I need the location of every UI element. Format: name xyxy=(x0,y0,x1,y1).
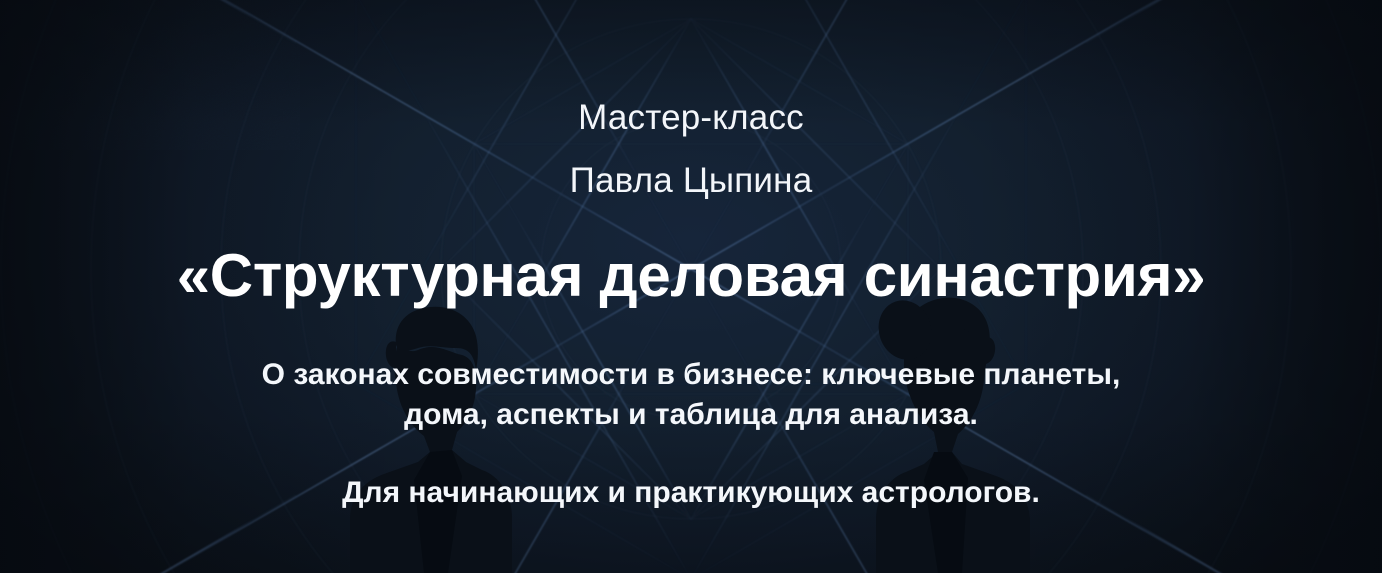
page-title: «Структурная деловая синастрия» xyxy=(177,244,1206,307)
audience-line: Для начинающих и практикующих астрологов… xyxy=(342,473,1040,512)
subtitle-line-2: дома, аспекты и таблица для анализа. xyxy=(262,395,1121,435)
kicker-line-2: Павла Цыпина xyxy=(570,163,813,198)
subtitle: О законах совместимости в бизнесе: ключе… xyxy=(262,355,1121,435)
subtitle-line-1: О законах совместимости в бизнесе: ключе… xyxy=(262,355,1121,395)
banner-content: Мастер-класс Павла Цыпина «Структурная д… xyxy=(0,0,1382,573)
promo-banner: Мастер-класс Павла Цыпина «Структурная д… xyxy=(0,0,1382,573)
kicker-line-1: Мастер-класс xyxy=(578,100,804,135)
